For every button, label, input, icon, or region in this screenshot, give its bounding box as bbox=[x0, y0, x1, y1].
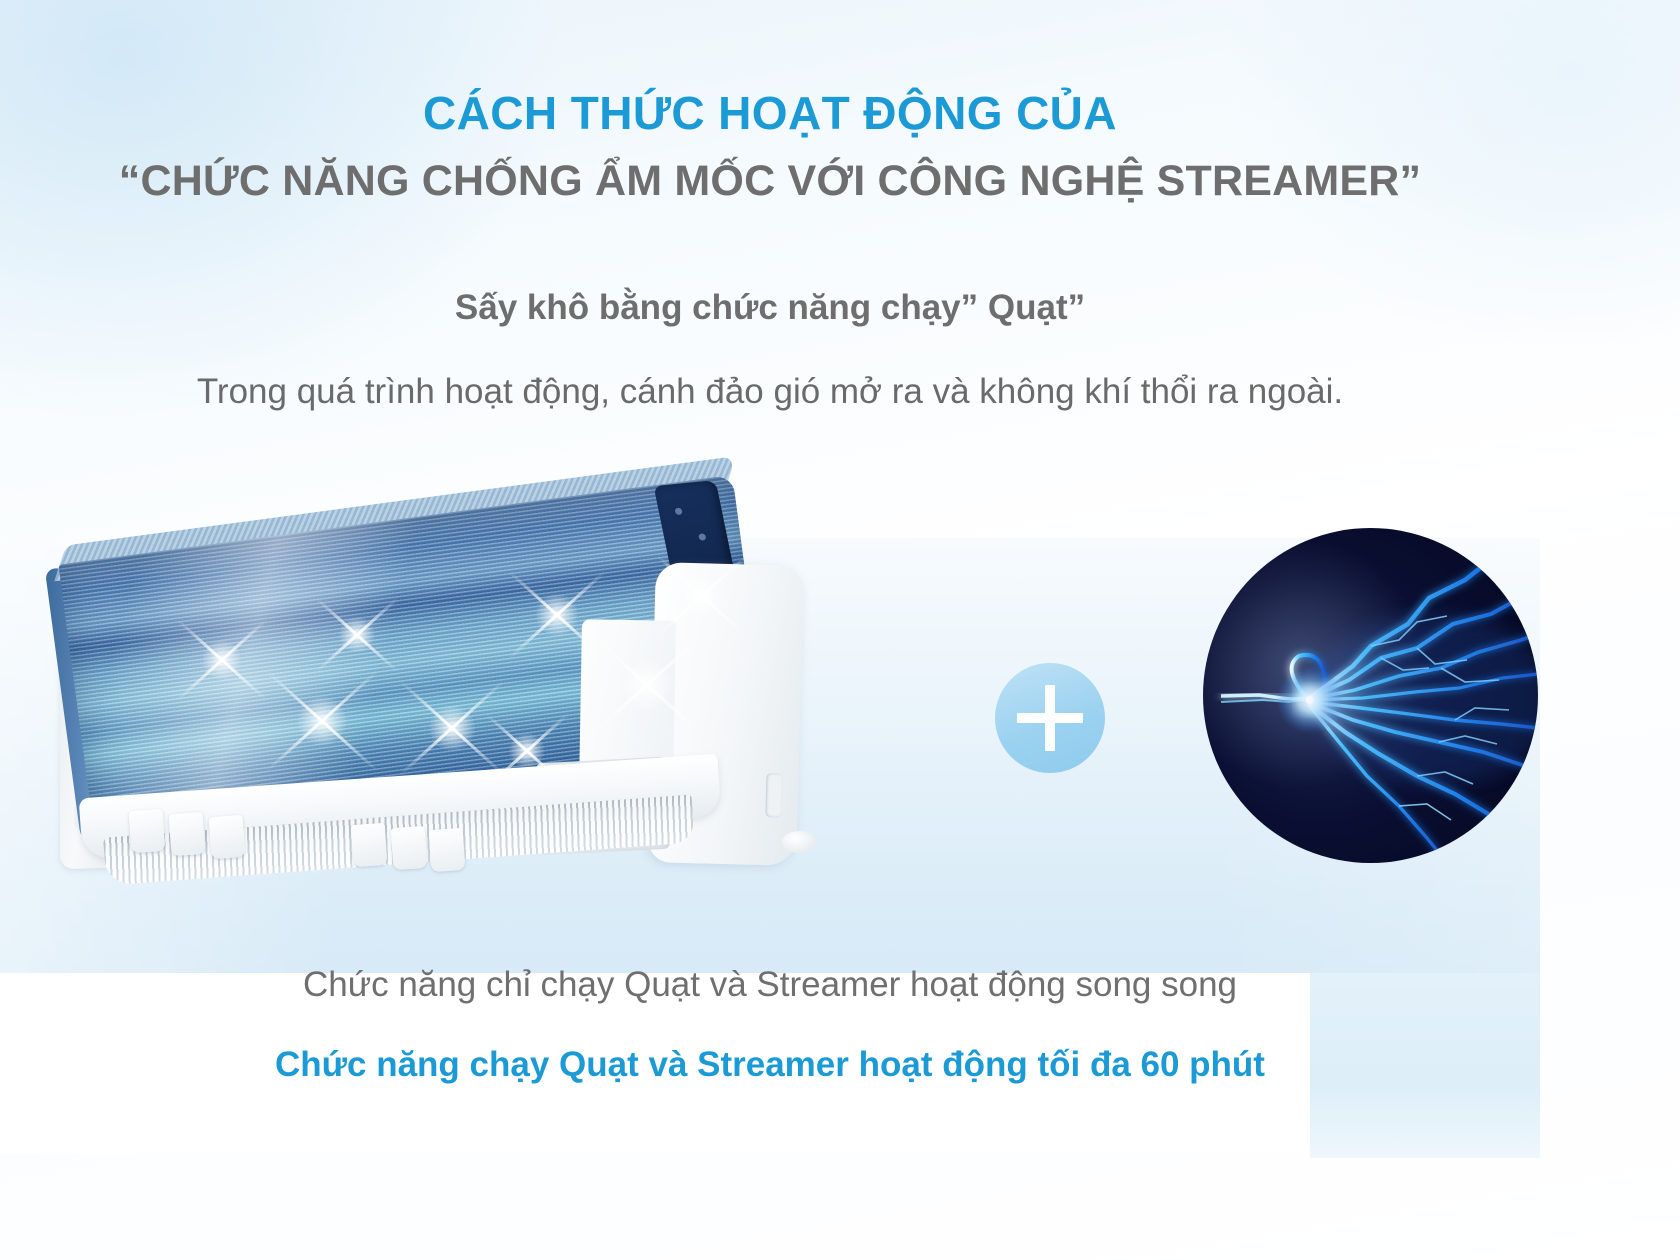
ac-side-knob bbox=[782, 831, 816, 853]
streamer-technology-illustration bbox=[1203, 528, 1538, 863]
lead-heading: Sấy khô bằng chức năng chạy” Quạt” bbox=[0, 288, 1540, 328]
ac-vane bbox=[429, 828, 466, 872]
air-conditioner-illustration bbox=[52, 528, 912, 873]
footer-note: Chức năng chỉ chạy Quạt và Streamer hoạt… bbox=[0, 965, 1540, 1005]
header: CÁCH THỨC HOẠT ĐỘNG CỦA “CHỨC NĂNG CHỐNG… bbox=[0, 86, 1540, 207]
page-title-primary: CÁCH THỨC HOẠT ĐỘNG CỦA bbox=[0, 86, 1540, 140]
ac-vane bbox=[391, 826, 428, 870]
footer-highlight: Chức năng chạy Quạt và Streamer hoạt độn… bbox=[0, 1045, 1540, 1085]
lead-description: Trong quá trình hoạt động, cánh đảo gió … bbox=[0, 372, 1540, 412]
ac-vane bbox=[351, 823, 388, 867]
page-title-secondary: “CHỨC NĂNG CHỐNG ẨM MỐC VỚI CÔNG NGHỆ ST… bbox=[0, 156, 1540, 207]
lead-text-block: Sấy khô bằng chức năng chạy” Quạt” Trong… bbox=[0, 288, 1540, 412]
ac-shell-tab bbox=[765, 773, 782, 817]
infographic-page: CÁCH THỨC HOẠT ĐỘNG CỦA “CHỨC NĂNG CHỐNG… bbox=[0, 0, 1680, 1260]
ac-vane bbox=[169, 812, 206, 856]
plus-icon bbox=[995, 663, 1105, 773]
footer-text-block: Chức năng chỉ chạy Quạt và Streamer hoạt… bbox=[0, 965, 1540, 1085]
ac-vane bbox=[209, 815, 246, 859]
plus-icon-vertical-bar bbox=[1045, 685, 1055, 751]
lightning-icon bbox=[1203, 528, 1538, 863]
ac-vane bbox=[129, 809, 166, 853]
